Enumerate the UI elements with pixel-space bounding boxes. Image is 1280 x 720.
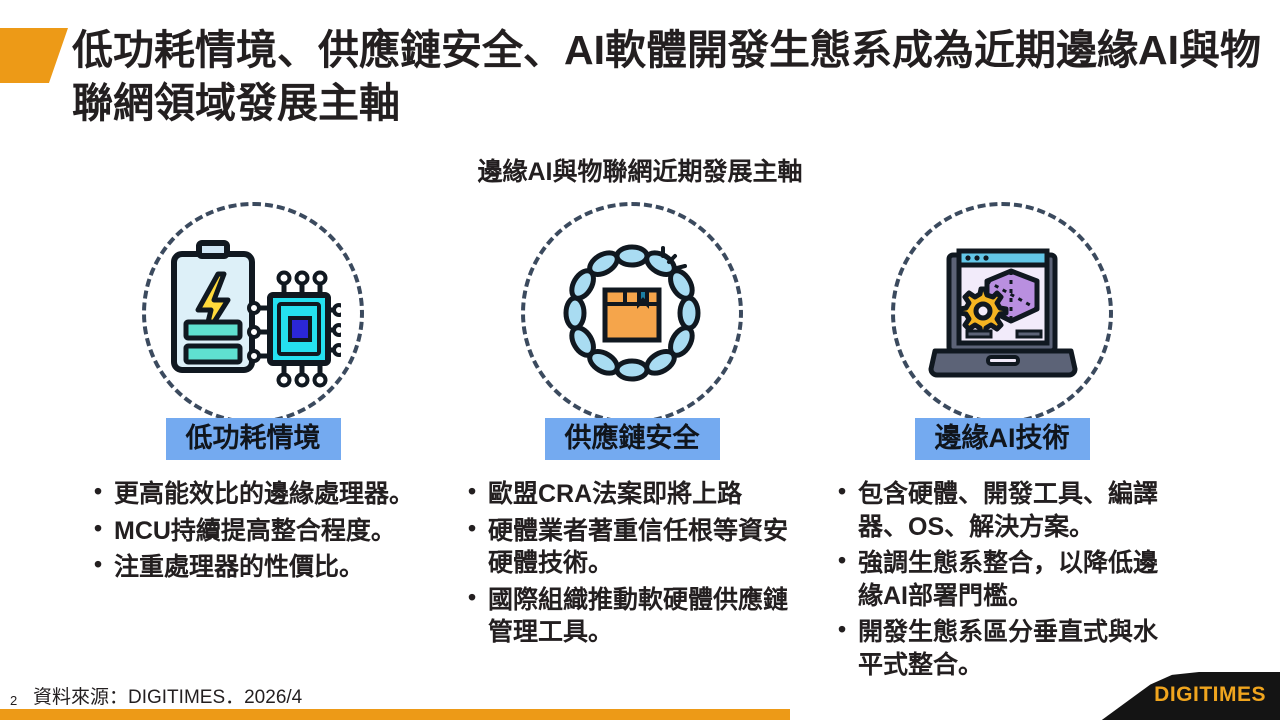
column-edge-ai-technology: 邊緣AI技術 包含硬體、開發工具、編譯器、OS、解決方案。 強調生態系整合，以降… <box>822 196 1182 685</box>
chain-box-icon <box>521 202 743 424</box>
list-item: 開發生態系區分垂直式與水平式整合。 <box>836 616 1182 681</box>
column-3-label: 邊緣AI技術 <box>915 418 1090 460</box>
column-low-power: 低功耗情境 更高能效比的邊緣處理器。 MCU持續提高整合程度。 注重處理器的性價… <box>78 196 428 588</box>
icon-circle-1 <box>78 196 428 428</box>
battery-chip-icon <box>142 202 364 424</box>
list-item: MCU持續提高整合程度。 <box>92 515 428 548</box>
list-item: 國際組織推動軟硬體供應鏈管理工具。 <box>466 584 812 649</box>
list-item: 強調生態系整合，以降低邊緣AI部署門檻。 <box>836 547 1182 612</box>
footer-orange-bar <box>0 709 790 720</box>
column-3-bullets: 包含硬體、開發工具、編譯器、OS、解決方案。 強調生態系整合，以降低邊緣AI部署… <box>836 478 1182 681</box>
column-1-bullets: 更高能效比的邊緣處理器。 MCU持續提高整合程度。 注重處理器的性價比。 <box>92 478 428 584</box>
source-note: 資料來源：DIGITIMES．2026/4 <box>33 682 302 709</box>
digitimes-logo: DIGITIMES <box>1154 683 1266 707</box>
list-item: 注重處理器的性價比。 <box>92 551 428 584</box>
content-columns: 低功耗情境 更高能效比的邊緣處理器。 MCU持續提高整合程度。 注重處理器的性價… <box>0 196 1280 666</box>
column-supply-chain-security: 供應鏈安全 歐盟CRA法案即將上路 硬體業者著重信任根等資安硬體技術。 國際組織… <box>452 196 812 653</box>
page-title: 低功耗情境、供應鏈安全、AI軟體開發生態系成為近期邊緣AI與物聯網領域發展主軸 <box>72 24 1262 131</box>
laptop-gear-cube-icon <box>891 202 1113 424</box>
title-accent-shape <box>0 28 68 83</box>
chart-subtitle: 邊緣AI與物聯網近期發展主軸 <box>0 152 1280 188</box>
icon-circle-2 <box>452 196 812 428</box>
list-item: 包含硬體、開發工具、編譯器、OS、解決方案。 <box>836 478 1182 543</box>
column-2-bullets: 歐盟CRA法案即將上路 硬體業者著重信任根等資安硬體技術。 國際組織推動軟硬體供… <box>466 478 812 649</box>
column-2-label: 供應鏈安全 <box>545 418 720 460</box>
column-1-label: 低功耗情境 <box>166 418 341 460</box>
list-item: 歐盟CRA法案即將上路 <box>466 478 812 511</box>
list-item: 硬體業者著重信任根等資安硬體技術。 <box>466 515 812 580</box>
list-item: 更高能效比的邊緣處理器。 <box>92 478 428 511</box>
icon-circle-3 <box>822 196 1182 428</box>
page-number: 2 <box>10 693 17 708</box>
